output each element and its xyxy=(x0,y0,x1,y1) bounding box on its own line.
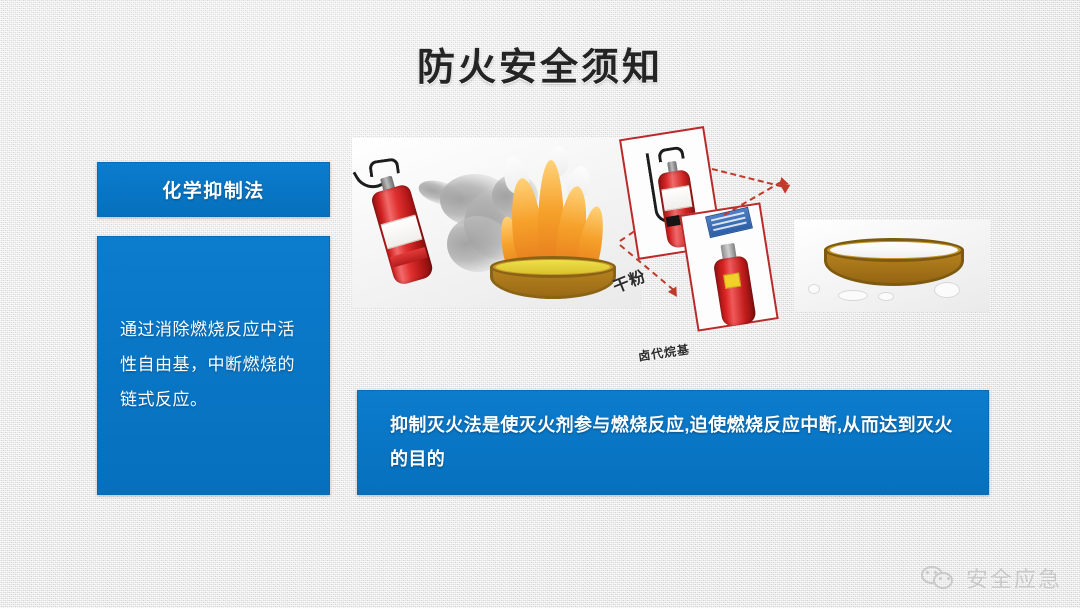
page-title: 防火安全须知 xyxy=(0,36,1080,91)
halon-extinguisher-icon xyxy=(700,236,765,329)
watermark-label: 安全应急 xyxy=(966,562,1062,594)
foam-blob-icon xyxy=(934,282,960,298)
fire-extinguisher-spraying-icon xyxy=(349,148,443,291)
watermark: 安全应急 xyxy=(921,562,1062,594)
method-heading-box: 化学抑制法 xyxy=(97,162,330,217)
summary-banner: 抑制灭火法是使灭火剂参与燃烧反应,迫使燃烧反应中断,从而达到灭火的目的 xyxy=(357,390,989,495)
method-description-box: 通过消除燃烧反应中活性自由基，中断燃烧的链式反应。 xyxy=(97,236,330,495)
summary-text: 抑制灭火法是使灭火剂参与燃烧反应,迫使燃烧反应中断,从而达到灭火的目的 xyxy=(390,409,956,476)
foam-blob-icon xyxy=(878,292,894,301)
halon-extinguisher-panel xyxy=(679,202,778,331)
scene-fire-extinguished xyxy=(794,220,990,312)
wechat-icon xyxy=(921,564,957,592)
foam-blob-icon xyxy=(808,284,820,294)
method-description-text: 通过消除燃烧反应中活性自由基，中断燃烧的链式反应。 xyxy=(120,313,307,418)
foam-blob-icon xyxy=(838,290,868,301)
burning-oil-pan-icon xyxy=(490,256,616,302)
scene-fire-being-extinguished xyxy=(352,138,642,308)
method-heading-label: 化学抑制法 xyxy=(162,176,265,203)
